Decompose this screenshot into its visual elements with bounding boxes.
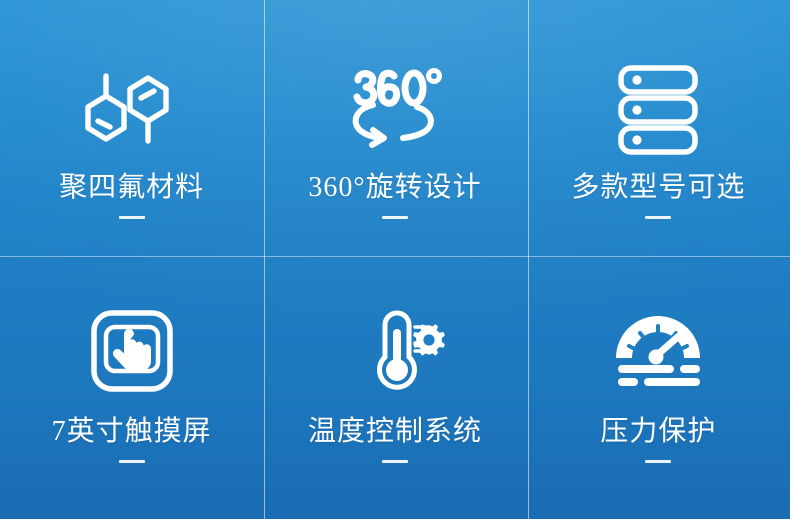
feature-label: 多款型号可选 xyxy=(571,174,745,202)
feature-grid: 聚四氟材料 xyxy=(0,0,790,519)
feature-label: 7英寸触摸屏 xyxy=(52,418,212,446)
label-underline xyxy=(645,216,671,219)
360-rotation-icon xyxy=(339,62,451,158)
feature-label: 360°旋转设计 xyxy=(308,174,481,202)
feature-banner: 聚四氟材料 xyxy=(0,0,790,519)
feature-label: 压力保护 xyxy=(600,418,716,446)
label-underline xyxy=(119,460,145,463)
feature-cell-pressure-protection[interactable]: 压力保护 xyxy=(527,260,790,519)
touchscreen-hand-icon xyxy=(90,302,174,400)
label-underline xyxy=(382,216,408,219)
feature-cell-temperature-control[interactable]: 温度控制系统 xyxy=(263,260,526,519)
feature-cell-rotation-design[interactable]: 360°旋转设计 xyxy=(263,0,526,260)
feature-cell-touchscreen[interactable]: 7英寸触摸屏 xyxy=(0,260,263,519)
hexagon-molecule-icon xyxy=(80,62,184,158)
server-rack-icon xyxy=(616,62,700,158)
feature-cell-model-options[interactable]: 多款型号可选 xyxy=(527,0,790,260)
feature-label: 温度控制系统 xyxy=(308,418,482,446)
label-underline xyxy=(119,216,145,219)
label-underline xyxy=(382,460,408,463)
label-underline xyxy=(645,460,671,463)
pressure-gauge-icon xyxy=(610,302,706,400)
feature-label: 聚四氟材料 xyxy=(59,174,204,202)
thermometer-gear-icon xyxy=(345,302,445,400)
feature-cell-ptfe-material[interactable]: 聚四氟材料 xyxy=(0,0,263,260)
